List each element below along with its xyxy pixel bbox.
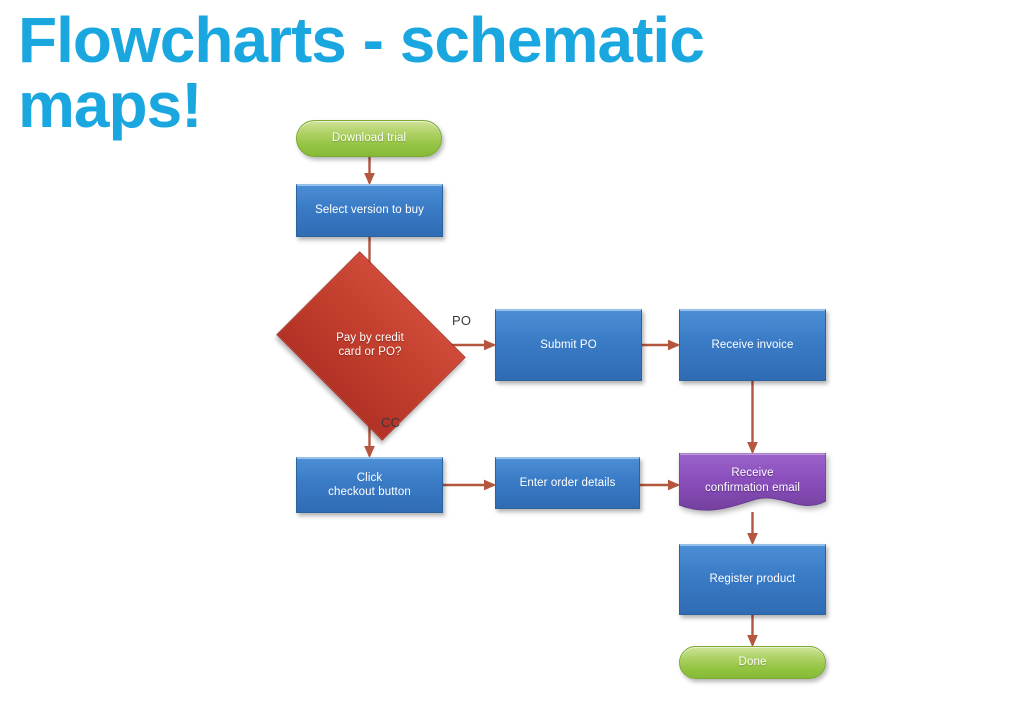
flowchart-diagram: Download trial Select version to buy Pay… xyxy=(0,0,1024,724)
edge-label-po: PO xyxy=(452,313,471,328)
node-enter-order-details[interactable]: Enter order details xyxy=(495,457,640,509)
node-label: Submit PO xyxy=(540,338,597,352)
node-label: Download trial xyxy=(332,131,406,145)
node-label: Receive confirmation email xyxy=(705,466,800,502)
node-click-checkout-button[interactable]: Click checkout button xyxy=(296,457,443,513)
node-label: Select version to buy xyxy=(315,203,424,217)
node-label: Pay by credit card or PO? xyxy=(336,331,404,360)
node-receive-invoice[interactable]: Receive invoice xyxy=(679,309,826,381)
node-register-product[interactable]: Register product xyxy=(679,544,826,615)
node-label: Click checkout button xyxy=(328,471,411,500)
node-select-version-to-buy[interactable]: Select version to buy xyxy=(296,184,443,237)
node-submit-po[interactable]: Submit PO xyxy=(495,309,642,381)
node-done[interactable]: Done xyxy=(679,646,826,679)
node-receive-confirmation-email[interactable]: Receive confirmation email xyxy=(679,453,826,515)
node-label: Receive invoice xyxy=(711,338,793,352)
node-label: Register product xyxy=(710,572,796,586)
edge-label-cc: CC xyxy=(381,415,400,430)
node-label: Enter order details xyxy=(520,476,616,490)
node-download-trial[interactable]: Download trial xyxy=(296,120,442,157)
node-label: Done xyxy=(739,655,767,669)
node-pay-decision[interactable]: Pay by credit card or PO? xyxy=(296,287,444,403)
